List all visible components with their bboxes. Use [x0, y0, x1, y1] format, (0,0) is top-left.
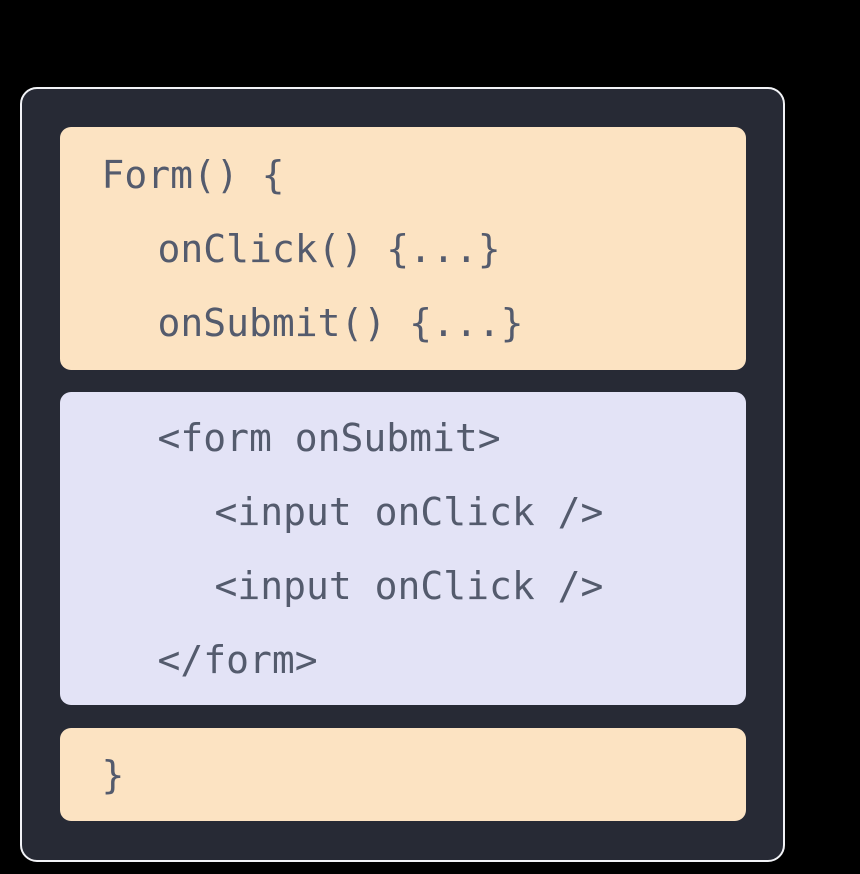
code-line: onSubmit() {...}	[60, 286, 746, 360]
code-card: Form() { onClick() {...} onSubmit() {...…	[20, 87, 785, 862]
code-line: <form onSubmit>	[60, 401, 746, 475]
code-line: onClick() {...}	[60, 212, 746, 286]
diagram-canvas: Form() { onClick() {...} onSubmit() {...…	[0, 0, 860, 874]
code-line: <input onClick />	[60, 475, 746, 549]
code-block-closing-brace: }	[60, 728, 746, 821]
code-line: <input onClick />	[60, 549, 746, 623]
code-block-component-scope: Form() { onClick() {...} onSubmit() {...…	[60, 127, 746, 370]
code-line: </form>	[60, 623, 746, 697]
code-block-markup: <form onSubmit> <input onClick /> <input…	[60, 392, 746, 705]
code-line: }	[60, 738, 746, 812]
code-line: Form() {	[60, 138, 746, 212]
